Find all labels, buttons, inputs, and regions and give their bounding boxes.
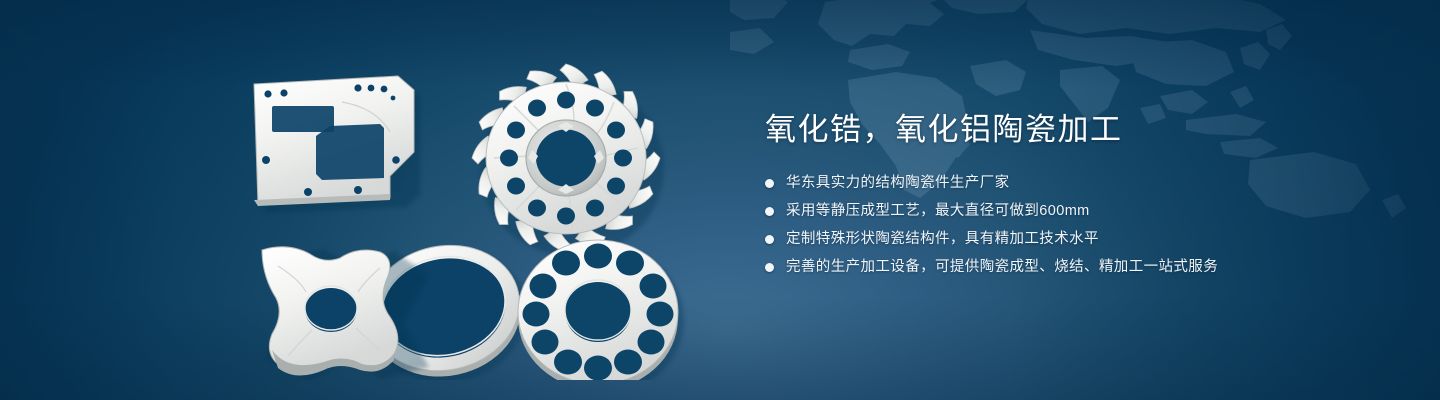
ceramic-products-image: [230, 40, 710, 380]
ceramic-mounting-plate-shape: [254, 76, 420, 213]
list-item: 采用等静压成型工艺，最大直径可做到600mm: [765, 200, 1385, 222]
list-item: 定制特殊形状陶瓷结构件，具有精加工技术水平: [765, 228, 1385, 250]
banner-copy: 氧化锆，氧化铝陶瓷加工 华东具实力的结构陶瓷件生产厂家 采用等静压成型工艺，最大…: [765, 108, 1385, 284]
bullet-dot-icon: [765, 179, 774, 188]
ceramic-impeller-disc-shape: [471, 63, 664, 256]
list-item: 完善的生产加工设备，可提供陶瓷成型、烧结、精加工一站式服务: [765, 256, 1385, 278]
hero-banner: 氧化锆，氧化铝陶瓷加工 华东具实力的结构陶瓷件生产厂家 采用等静压成型工艺，最大…: [0, 0, 1440, 400]
feature-text: 定制特殊形状陶瓷结构件，具有精加工技术水平: [786, 228, 1099, 250]
feature-text: 完善的生产加工设备，可提供陶瓷成型、烧结、精加工一站式服务: [786, 256, 1218, 278]
ceramic-cross-vane-shape: [262, 247, 429, 380]
feature-text: 华东具实力的结构陶瓷件生产厂家: [786, 172, 1010, 194]
feature-text: 采用等静压成型工艺，最大直径可做到600mm: [786, 200, 1090, 222]
bullet-dot-icon: [765, 207, 774, 216]
page-title: 氧化锆，氧化铝陶瓷加工: [765, 108, 1385, 152]
feature-list: 华东具实力的结构陶瓷件生产厂家 采用等静压成型工艺，最大直径可做到600mm 定…: [765, 172, 1385, 278]
bullet-dot-icon: [765, 263, 774, 272]
list-item: 华东具实力的结构陶瓷件生产厂家: [765, 172, 1385, 194]
bullet-dot-icon: [765, 235, 774, 244]
ceramic-perforated-disc-shape: [518, 240, 684, 380]
